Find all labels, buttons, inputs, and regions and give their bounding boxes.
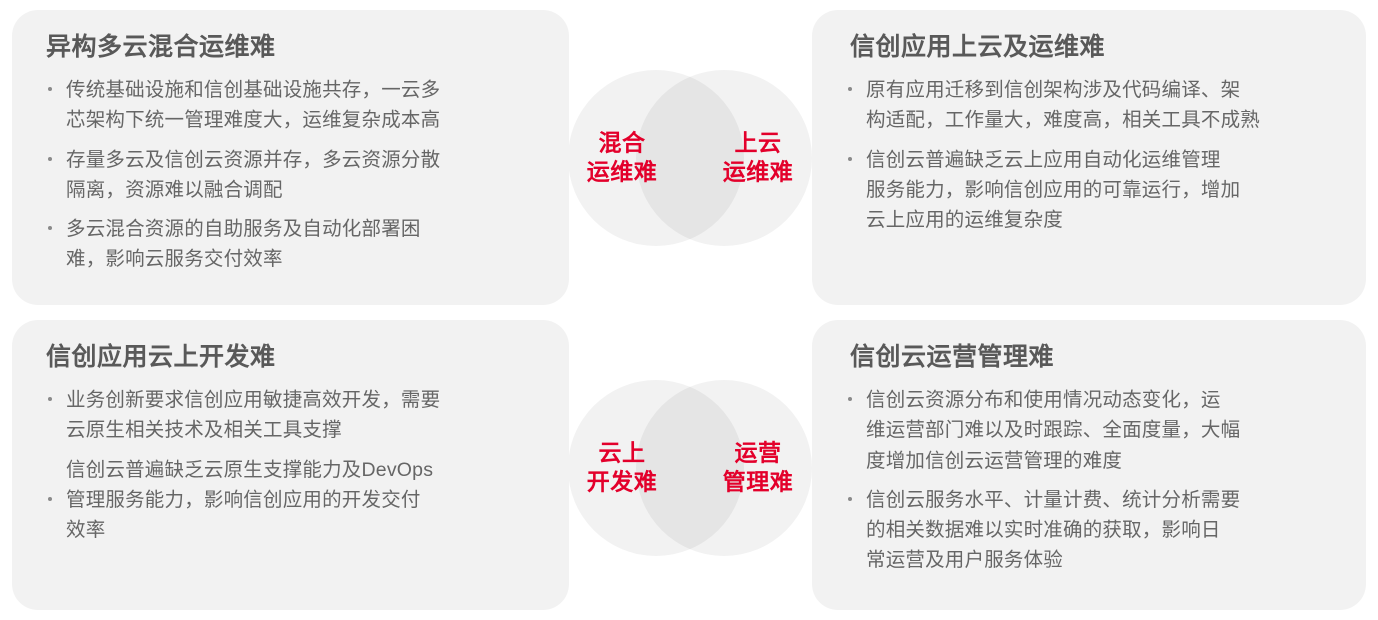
panel-heterogeneous-multicloud-hybrid-ops: 异构多云混合运维难 传统基础设施和信创基础设施共存，一云多 芯架构下统一管理难度… [12,10,569,305]
venn-label-left: 云上 开发难 [570,439,674,498]
bullet-list: 传统基础设施和信创基础设施共存，一云多 芯架构下统一管理难度大，运维复杂成本高 … [46,75,539,274]
bullet-line: 业务创新要求信创应用敏捷高效开发，需要 [66,385,539,415]
bullet-list: 业务创新要求信创应用敏捷高效开发，需要 云原生相关技术及相关工具支撑 信创云普遍… [46,385,539,545]
panel-xinchuang-app-to-cloud-and-ops: 信创应用上云及运维难 原有应用迁移到信创架构涉及代码编译、架 构适配，工作量大，… [812,10,1366,305]
venn-label-line: 管理难 [706,468,810,497]
bullet-line: 难，影响云服务交付效率 [66,244,539,274]
list-item: 原有应用迁移到信创架构涉及代码编译、架 构适配，工作量大，难度高，相关工具不成熟 [846,75,1336,135]
panel-title: 信创应用上云及运维难 [850,32,1336,63]
bullet-list: 信创云资源分布和使用情况动态变化，运 维运营部门难以及时跟踪、全面度量，大幅 度… [846,385,1336,575]
venn-label-left: 混合 运维难 [570,129,674,188]
venn-diagram-bottom: 云上 开发难 运营 管理难 [568,380,812,556]
bullet-dot-icon [48,157,52,161]
venn-label-right: 运营 管理难 [706,439,810,498]
list-item: 传统基础设施和信创基础设施共存，一云多 芯架构下统一管理难度大，运维复杂成本高 [46,75,539,135]
bullet-dot-icon [848,397,852,401]
bullet-dot-icon [848,157,852,161]
bullet-dot-icon [48,497,52,501]
venn-label-line: 开发难 [570,468,674,497]
list-item: 信创云普遍缺乏云原生支撑能力及DevOps 管理服务能力，影响信创应用的开发交付… [46,455,539,546]
challenges-overview-board: 异构多云混合运维难 传统基础设施和信创基础设施共存，一云多 芯架构下统一管理难度… [0,0,1378,620]
bullet-line: 多云混合资源的自助服务及自动化部署困 [66,214,539,244]
bullet-line: 芯架构下统一管理难度大，运维复杂成本高 [66,105,539,135]
venn-label-line: 运营 [706,439,810,468]
bullet-line: 管理服务能力，影响信创应用的开发交付 [66,485,539,515]
bullet-line: 云上应用的运维复杂度 [866,205,1336,235]
bullet-dot-icon [848,497,852,501]
bullet-dot-icon [848,87,852,91]
bullet-dot-icon [48,226,52,230]
list-item: 信创云普遍缺乏云上应用自动化运维管理 服务能力，影响信创应用的可靠运行，增加 云… [846,145,1336,236]
bullet-line: 服务能力，影响信创应用的可靠运行，增加 [866,175,1336,205]
venn-label-line: 运维难 [570,158,674,187]
venn-diagram-top: 混合 运维难 上云 运维难 [568,70,812,246]
bullet-line: 存量多云及信创云资源并存，多云资源分散 [66,145,539,175]
bullet-line: 信创云资源分布和使用情况动态变化，运 [866,385,1336,415]
list-item: 信创云服务水平、计量计费、统计分析需要 的相关数据难以实时准确的获取，影响日 常… [846,485,1336,576]
bullet-line: 信创云普遍缺乏云原生支撑能力及DevOps [66,455,539,485]
venn-label-line: 混合 [570,129,674,158]
bullet-dot-icon [48,397,52,401]
bullet-line: 效率 [66,515,539,545]
list-item: 多云混合资源的自助服务及自动化部署困 难，影响云服务交付效率 [46,214,539,274]
bullet-line: 度增加信创云运营管理的难度 [866,446,1336,476]
list-item: 业务创新要求信创应用敏捷高效开发，需要 云原生相关技术及相关工具支撑 [46,385,539,445]
bullet-line: 传统基础设施和信创基础设施共存，一云多 [66,75,539,105]
bullet-line: 常运营及用户服务体验 [866,545,1336,575]
bullet-line: 构适配，工作量大，难度高，相关工具不成熟 [866,105,1336,135]
venn-label-line: 上云 [706,129,810,158]
bullet-line: 的相关数据难以实时准确的获取，影响日 [866,515,1336,545]
list-item: 存量多云及信创云资源并存，多云资源分散 隔离，资源难以融合调配 [46,145,539,205]
bullet-line: 云原生相关技术及相关工具支撑 [66,415,539,445]
panel-title: 异构多云混合运维难 [46,32,539,63]
bullet-dot-icon [48,87,52,91]
bullet-line: 维运营部门难以及时跟踪、全面度量，大幅 [866,415,1336,445]
panel-title: 信创应用云上开发难 [46,342,539,373]
bullet-line: 信创云普遍缺乏云上应用自动化运维管理 [866,145,1336,175]
venn-label-right: 上云 运维难 [706,129,810,188]
panel-xinchuang-cloud-operations-management: 信创云运营管理难 信创云资源分布和使用情况动态变化，运 维运营部门难以及时跟踪、… [812,320,1366,610]
venn-label-line: 云上 [570,439,674,468]
bullet-line: 信创云服务水平、计量计费、统计分析需要 [866,485,1336,515]
list-item: 信创云资源分布和使用情况动态变化，运 维运营部门难以及时跟踪、全面度量，大幅 度… [846,385,1336,476]
bullet-list: 原有应用迁移到信创架构涉及代码编译、架 构适配，工作量大，难度高，相关工具不成熟… [846,75,1336,235]
panel-title: 信创云运营管理难 [850,342,1336,373]
panel-xinchuang-app-cloud-development: 信创应用云上开发难 业务创新要求信创应用敏捷高效开发，需要 云原生相关技术及相关… [12,320,569,610]
venn-label-line: 运维难 [706,158,810,187]
bullet-line: 原有应用迁移到信创架构涉及代码编译、架 [866,75,1336,105]
bullet-line: 隔离，资源难以融合调配 [66,175,539,205]
